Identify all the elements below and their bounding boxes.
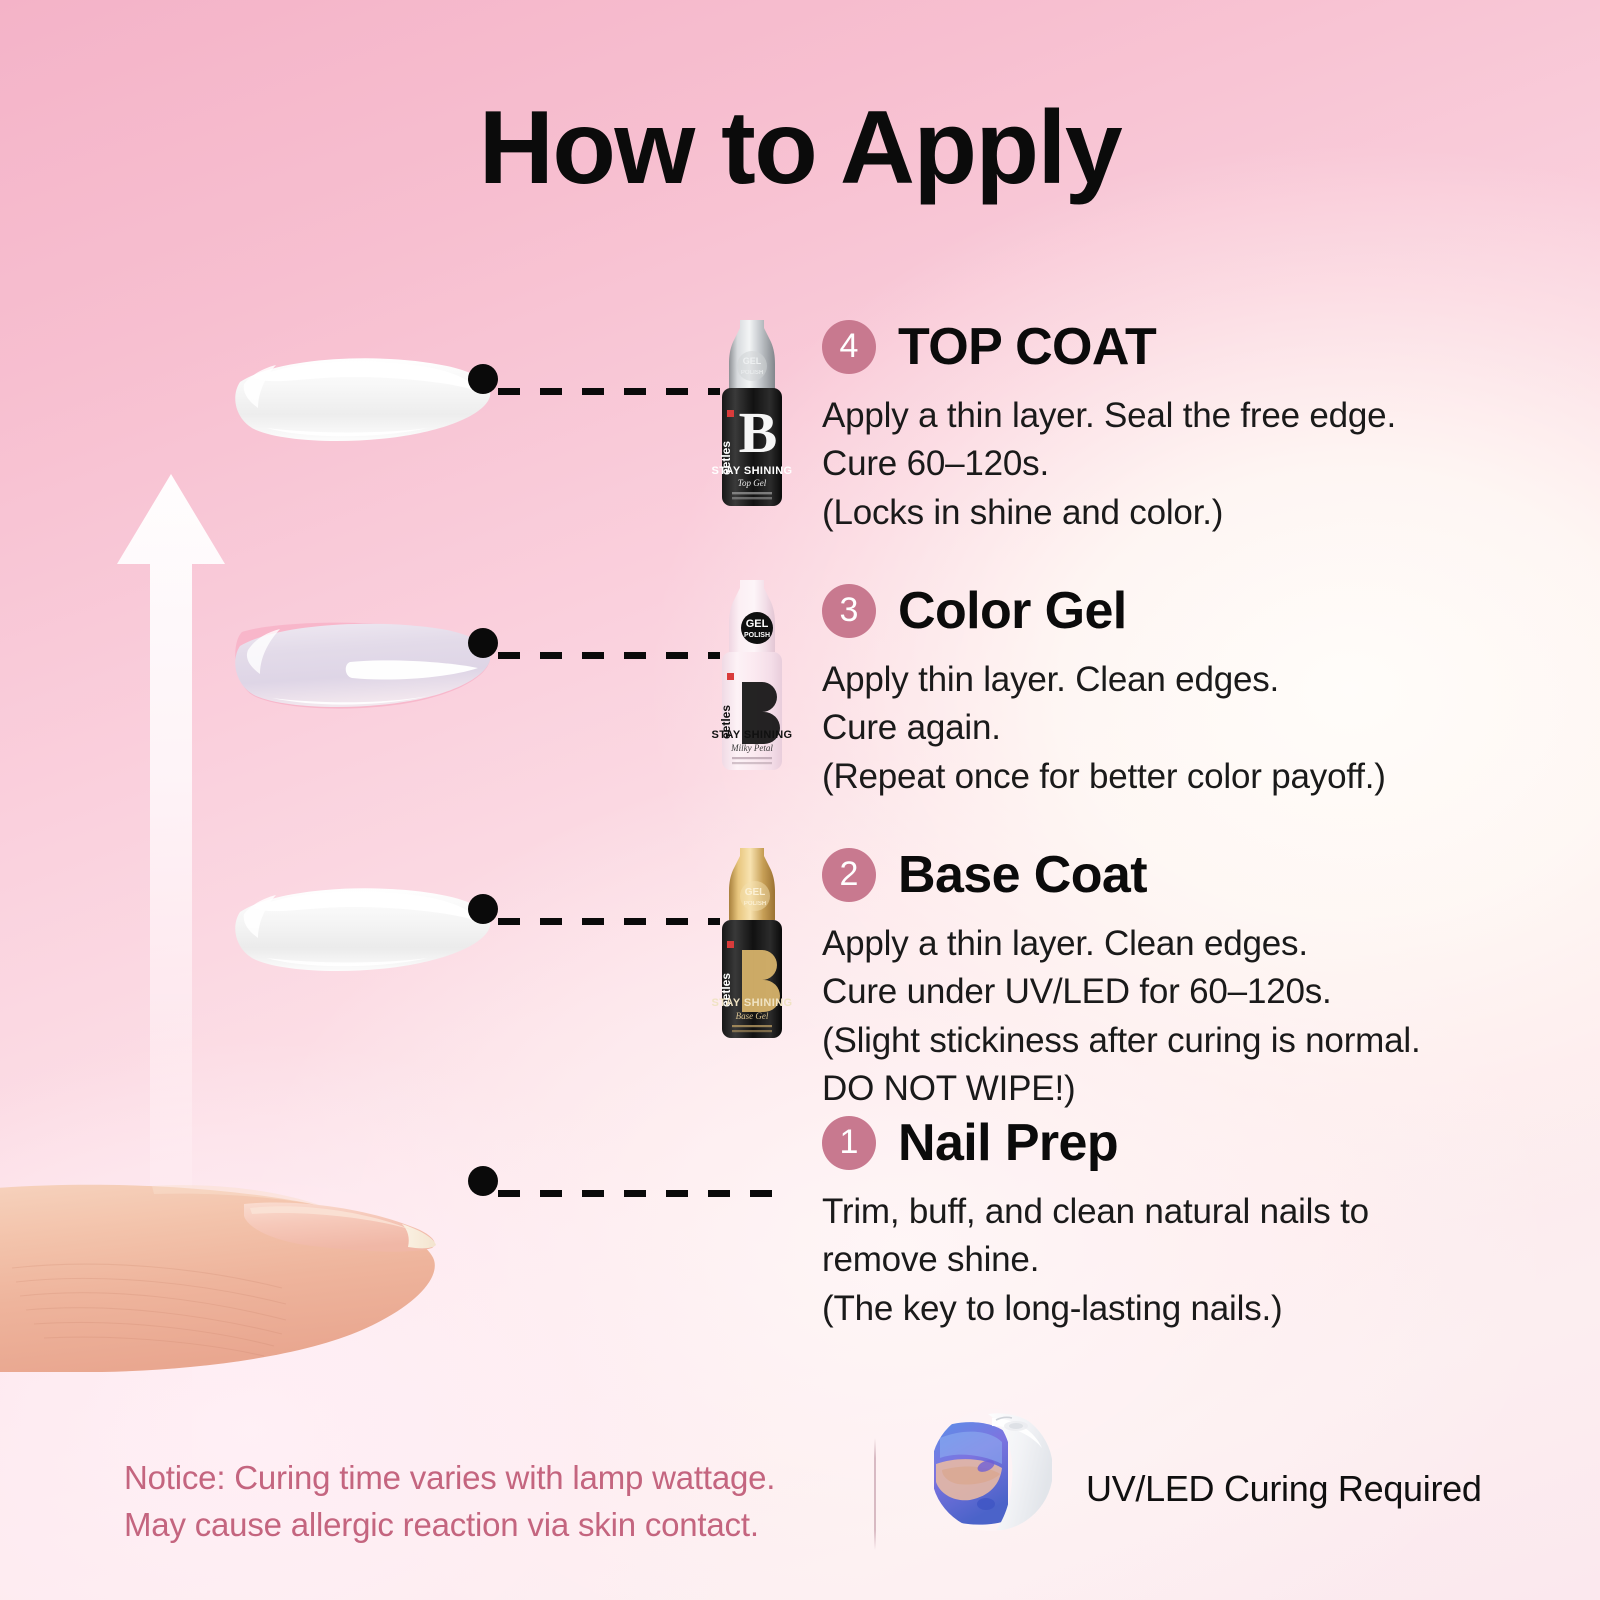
svg-text:B: B [739,400,778,465]
svg-text:GEL: GEL [745,887,766,898]
page-title: How to Apply [0,96,1600,200]
footer-divider [874,1438,876,1550]
step-1-body: Trim, buff, and clean natural nails to r… [822,1188,1369,1333]
finger-photo-nail-prep [0,1148,482,1398]
svg-text:GEL: GEL [743,356,762,366]
step-4-body: Apply a thin layer. Seal the free edge. … [822,392,1396,537]
bottle-top-coat: GEL POLISH eetles B STAY SHINING Top Gel [702,318,802,510]
step-4-line-1: Apply a thin layer. Seal the free edge. [822,392,1396,440]
step-1-title: Nail Prep [898,1117,1118,1169]
step-4-heading: 4 TOP COAT [822,320,1396,374]
notice-line-2: May cause allergic reaction via skin con… [124,1502,775,1549]
how-to-apply-infographic: How to Apply [0,0,1600,1600]
svg-text:Milky Petal: Milky Petal [730,743,773,753]
step-2-line-4: DO NOT WIPE!) [822,1065,1420,1113]
nail-illustration-top-coat [232,352,494,444]
step-2-line-3: (Slight stickiness after curing is norma… [822,1017,1420,1065]
step-4-line-2: Cure 60–120s. [822,440,1396,488]
bottle-color-gel: GEL POLISH eetles STAY SHINING Milky Pet… [702,578,802,774]
step-1-line-3: (The key to long-lasting nails.) [822,1285,1369,1333]
uv-led-lamp-icon [930,1408,1054,1532]
connector-line-step-2 [468,906,718,912]
svg-text:GEL: GEL [746,618,769,630]
svg-text:STAY SHINING: STAY SHINING [711,729,792,741]
svg-text:STAY SHINING: STAY SHINING [711,997,792,1009]
step-2-line-1: Apply a thin layer. Clean edges. [822,920,1420,968]
step-4-text: 4 TOP COAT Apply a thin layer. Seal the … [822,320,1396,537]
svg-text:Base Gel: Base Gel [736,1011,769,1021]
step-4-line-3: (Locks in shine and color.) [822,489,1396,537]
step-3-line-3: (Repeat once for better color payoff.) [822,753,1386,801]
step-4-badge: 4 [822,320,876,374]
step-3-badge: 3 [822,584,876,638]
step-3-body: Apply thin layer. Clean edges. Cure agai… [822,656,1386,801]
step-4-title: TOP COAT [898,321,1156,373]
step-3-line-1: Apply thin layer. Clean edges. [822,656,1386,704]
connector-line-step-1 [468,1178,718,1184]
step-3-heading: 3 Color Gel [822,584,1386,638]
svg-text:POLISH: POLISH [744,632,770,639]
svg-text:POLISH: POLISH [744,901,766,907]
nail-illustration-base-coat [232,882,494,974]
step-2-body: Apply a thin layer. Clean edges. Cure un… [822,920,1420,1113]
step-1-badge: 1 [822,1116,876,1170]
connector-line-step-4 [468,376,718,382]
step-1-line-1: Trim, buff, and clean natural nails to [822,1188,1369,1236]
nail-illustration-color-gel [232,616,494,712]
svg-text:STAY SHINING: STAY SHINING [711,465,792,477]
step-2-heading: 2 Base Coat [822,848,1420,902]
notice-block: Notice: Curing time varies with lamp wat… [124,1455,775,1549]
step-1-heading: 1 Nail Prep [822,1116,1369,1170]
svg-text:Top Gel: Top Gel [738,478,767,488]
step-3-line-2: Cure again. [822,704,1386,752]
svg-text:POLISH: POLISH [741,370,763,376]
bottle-base-coat: GEL POLISH eetles STAY SHINING Base Gel [702,846,802,1042]
step-1-text: 1 Nail Prep Trim, buff, and clean natura… [822,1116,1369,1333]
step-2-line-2: Cure under UV/LED for 60–120s. [822,968,1420,1016]
step-2-badge: 2 [822,848,876,902]
step-3-title: Color Gel [898,585,1127,637]
step-2-title: Base Coat [898,849,1147,901]
step-2-text: 2 Base Coat Apply a thin layer. Clean ed… [822,848,1420,1113]
notice-line-1: Notice: Curing time varies with lamp wat… [124,1455,775,1502]
uv-curing-label: UV/LED Curing Required [1086,1468,1482,1510]
connector-line-step-3 [468,640,718,646]
step-1-line-2: remove shine. [822,1236,1369,1284]
step-3-text: 3 Color Gel Apply thin layer. Clean edge… [822,584,1386,801]
